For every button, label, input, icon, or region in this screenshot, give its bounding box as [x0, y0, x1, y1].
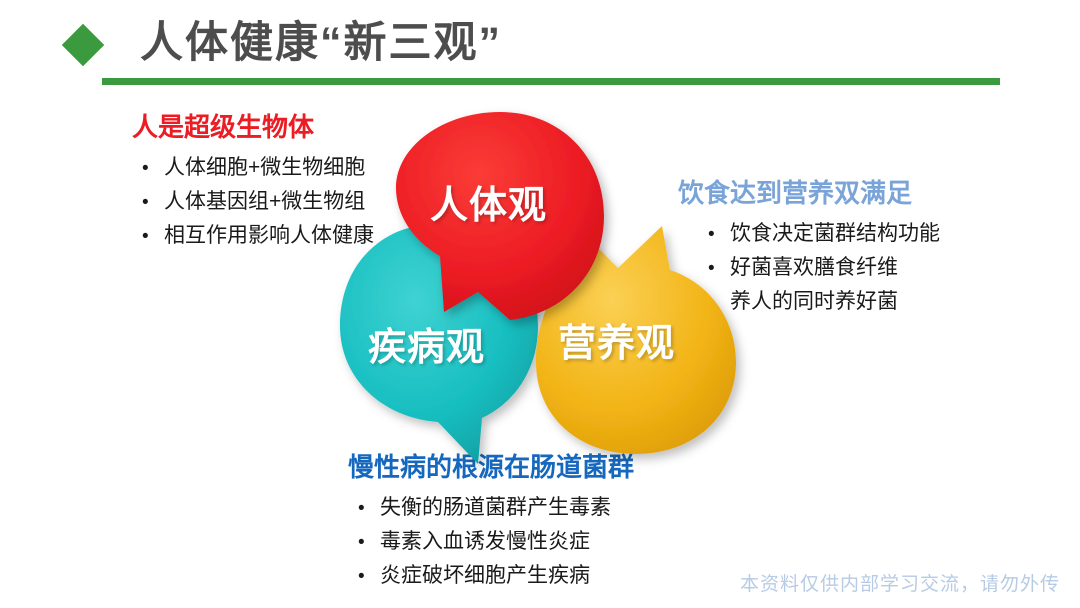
list-item-label: 养人的同时养好菌	[730, 285, 898, 319]
title-underline-rule	[102, 78, 1000, 85]
bottom-block-bullet-list: • 失衡的肠道菌群产生毒素 • 毒素入血诱发慢性炎症 • 炎症破坏细胞产生疾病	[358, 491, 634, 593]
list-item: • 毒素入血诱发慢性炎症	[358, 525, 634, 559]
list-item-label: 饮食决定菌群结构功能	[730, 217, 940, 251]
list-item-label: 好菌喜欢膳食纤维	[730, 251, 898, 285]
list-item-label: 失衡的肠道菌群产生毒素	[380, 491, 611, 525]
bullet-dot-icon: •	[358, 494, 380, 525]
list-item-label: 炎症破坏细胞产生疾病	[380, 559, 590, 593]
bullet-dot-icon: •	[142, 222, 164, 253]
list-item-label: 毒素入血诱发慢性炎症	[380, 525, 590, 559]
bullet-dot-icon: •	[142, 154, 164, 185]
three-views-bubble-diagram: 疾病观 营养观	[330, 100, 730, 480]
list-item: • 失衡的肠道菌群产生毒素	[358, 491, 634, 525]
confidentiality-note: 本资料仅供内部学习交流，请勿外传	[740, 569, 1060, 596]
bullet-dot-icon: •	[358, 528, 380, 559]
bubble-label-human-body: 人体观	[430, 174, 547, 229]
diamond-bullet-icon	[62, 24, 104, 66]
bubble-human-body-view[interactable]: 人体观	[382, 106, 622, 346]
list-item: • 炎症破坏细胞产生疾病	[358, 559, 634, 593]
bullet-dot-icon: •	[142, 188, 164, 219]
bullet-dot-icon: •	[358, 562, 380, 593]
slide-title-bar: 人体健康“新三观”	[0, 0, 1080, 92]
page-title: 人体健康“新三观”	[140, 8, 502, 70]
